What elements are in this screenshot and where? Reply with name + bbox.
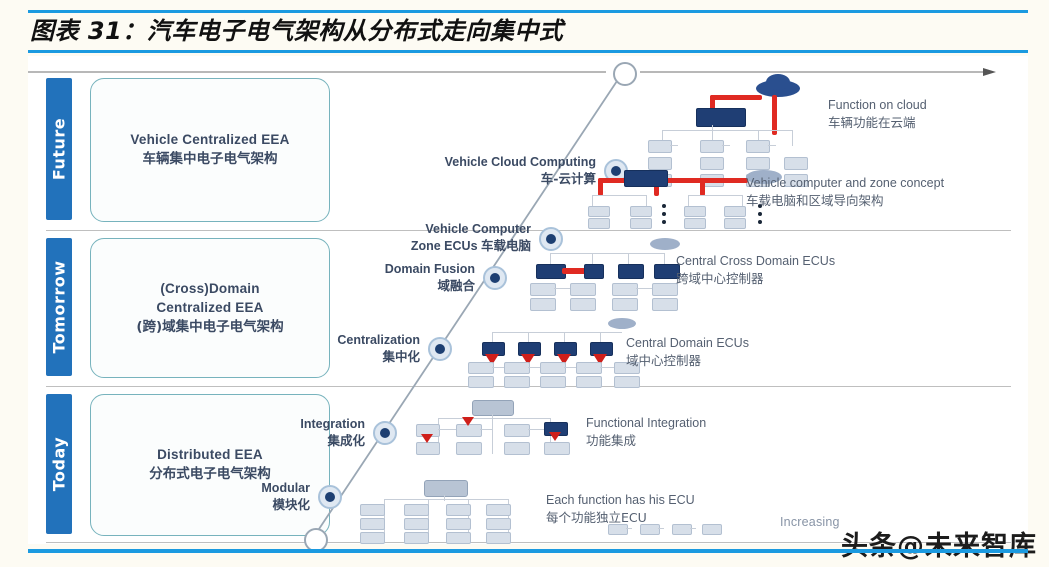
ecu-block (456, 442, 482, 455)
caption-cn: 车-云计算 (358, 171, 596, 188)
era-label-tomorrow: Tomorrow (50, 261, 69, 354)
ecu-block (672, 524, 692, 535)
ecu-block (702, 524, 722, 535)
caption-integration: Integration 集成化 (178, 416, 365, 450)
ellipsis-dot (662, 220, 666, 224)
description-cn: 跨域中心控制器 (676, 270, 835, 288)
caption-en-line1: Vehicle Computer (328, 221, 531, 238)
red-function-icon (462, 417, 474, 426)
ellipsis-dot (758, 220, 762, 224)
caption-en: Modular (123, 480, 310, 497)
bus-wire (626, 528, 632, 529)
ecu-block (468, 362, 494, 374)
description-en: Central Cross Domain ECUs (676, 252, 835, 270)
bus-wire (444, 495, 445, 501)
description-functional-integration: Functional Integration 功能集成 (586, 414, 706, 450)
description-central-domain-ecus: Central Domain ECUs 域中心控制器 (626, 334, 749, 370)
bus-wire (554, 288, 570, 289)
ecu-block (612, 283, 638, 296)
timeline-node-top-endpoint (613, 62, 637, 86)
diagram-canvas: Future Tomorrow Today Vehicle Centralize… (28, 56, 1028, 544)
ecu-block (404, 532, 429, 544)
mini-diagram-domain-fusion (528, 238, 698, 310)
ecu-block (540, 362, 566, 374)
description-en: Each function has his ECU (546, 491, 695, 509)
bus-wire (768, 145, 776, 146)
mini-diagram-bottom-ecus (608, 522, 728, 538)
bus-wire (384, 499, 508, 500)
ecu-block (360, 532, 385, 544)
description-cn: 功能集成 (586, 432, 706, 450)
ecu-block (576, 376, 602, 388)
red-bus-segment (710, 95, 762, 100)
ecu-block (576, 362, 602, 374)
ecu-block (530, 298, 556, 311)
figure-page: 图表 31：汽车电子电气架构从分布式走向集中式 Future Tomorrow … (0, 0, 1049, 567)
stage-box-en-line2: Centralized EEA (156, 298, 263, 318)
mini-diagram-integration (416, 398, 576, 462)
ecu-block (504, 362, 530, 374)
red-bus-backbone (598, 178, 748, 183)
ecu-block (486, 504, 511, 516)
timeline-node-modular (318, 485, 342, 509)
gateway-block (424, 480, 468, 497)
ecu-block (724, 218, 746, 229)
description-en: Vehicle computer and zone concept (746, 174, 944, 192)
bus-wire (658, 528, 664, 529)
cloud-icon (650, 238, 680, 250)
stage-box-vehicle-centralized: Vehicle Centralized EEA 车辆集中电子电气架构 (90, 78, 330, 222)
era-bar-today: Today (46, 394, 72, 534)
bus-wire (438, 418, 550, 419)
bus-wire (722, 145, 730, 146)
watermark-text: 头条@未来智库 (841, 524, 1037, 563)
page-title: 图表 31：汽车电子电气架构从分布式走向集中式 (30, 14, 1010, 48)
bus-wire (550, 253, 664, 254)
red-bus-drop (700, 178, 705, 196)
bus-wire (690, 528, 696, 529)
description-en: Functional Integration (586, 414, 706, 432)
stage-box-cn: 车辆集中电子电气架构 (143, 150, 278, 170)
red-function-icon (421, 434, 433, 443)
ecu-block (360, 504, 385, 516)
cloud-icon (608, 318, 636, 329)
era-bar-tomorrow: Tomorrow (46, 238, 72, 376)
ecu-block (612, 298, 638, 311)
ecu-block (446, 518, 471, 530)
ecu-block (700, 140, 724, 153)
bus-wire (670, 145, 678, 146)
ecu-block (486, 518, 511, 530)
description-function-on-cloud: Function on cloud 车辆功能在云端 (828, 96, 927, 132)
ellipsis-dot (662, 204, 666, 208)
caption-cn: 模块化 (123, 497, 310, 514)
ecu-block (416, 442, 440, 455)
ecu-block (746, 140, 770, 153)
bus-wire (492, 418, 493, 454)
caption-vehicle-computer-zone-ecus: Vehicle Computer Zone ECUs 车载电脑 (328, 221, 531, 255)
ellipsis-dot (758, 212, 762, 216)
bus-wire (592, 195, 646, 196)
caption-vehicle-cloud-computing: Vehicle Cloud Computing 车-云计算 (358, 154, 596, 188)
title-rule-top (28, 10, 1028, 13)
ecu-block (608, 524, 628, 535)
bus-wire (600, 367, 614, 368)
bus-wire (480, 429, 492, 430)
ecu-block (630, 218, 652, 229)
ecu-block (468, 376, 494, 388)
description-en: Central Domain ECUs (626, 334, 749, 352)
ecu-block (570, 298, 596, 311)
ecu-block (570, 283, 596, 296)
bus-wire (528, 429, 544, 430)
cloud-icon-puff (766, 74, 790, 90)
ellipsis-dot (662, 212, 666, 216)
caption-domain-fusion: Domain Fusion 域融合 (278, 261, 475, 295)
timeline-node-integration (373, 421, 397, 445)
bus-wire (688, 195, 742, 196)
red-function-icon (549, 432, 561, 441)
timeline-node-centralization (428, 337, 452, 361)
era-label-today: Today (50, 437, 69, 491)
caption-en: Integration (178, 416, 365, 433)
domain-controller-block (618, 264, 644, 279)
ecu-block (684, 206, 706, 217)
description-cn: 车辆功能在云端 (828, 114, 927, 132)
description-cn: 域中心控制器 (626, 352, 749, 370)
bus-wire (636, 288, 652, 289)
stage-box-en: Vehicle Centralized EEA (130, 130, 289, 150)
footer-rule (28, 549, 1028, 553)
ecu-block (446, 504, 471, 516)
caption-modular: Modular 模块化 (123, 480, 310, 514)
bus-wire (662, 130, 792, 131)
title-rule-bottom (28, 50, 1028, 53)
description-vehicle-computer-zone: Vehicle computer and zone concept 车载电脑和区… (746, 174, 944, 210)
ecu-block (530, 283, 556, 296)
increasing-axis-label: Increasing (780, 515, 840, 529)
bus-wire (792, 130, 793, 146)
red-bus-segment (772, 95, 777, 135)
bus-wire (564, 367, 576, 368)
ecu-block (540, 376, 566, 388)
caption-cn: 域融合 (278, 278, 475, 295)
era-label-future: Future (50, 118, 69, 180)
ecu-block (648, 140, 672, 153)
ecu-block (404, 518, 429, 530)
domain-controller-block (584, 264, 604, 279)
caption-en: Centralization (228, 332, 420, 349)
ecu-block (504, 442, 530, 455)
ecu-block (652, 298, 678, 311)
mini-diagram-centralization (468, 318, 648, 386)
ecu-block (724, 206, 746, 217)
ecu-block (486, 532, 511, 544)
ecu-block (504, 424, 530, 437)
bus-wire (492, 367, 504, 368)
timeline-node-domain-fusion (483, 266, 507, 290)
caption-cn: 集中化 (228, 349, 420, 366)
caption-centralization: Centralization 集中化 (228, 332, 420, 366)
description-cn: 车载电脑和区域导向架构 (746, 192, 944, 210)
bus-wire (492, 332, 622, 333)
ecu-block (504, 376, 530, 388)
vehicle-computer-block (624, 170, 668, 187)
caption-en-line2: Zone ECUs 车载电脑 (328, 238, 531, 255)
vehicle-computer-block (696, 108, 746, 127)
mini-diagram-modular (358, 480, 538, 540)
ecu-block (588, 206, 610, 217)
stage-box-en-line1: (Cross)Domain (160, 279, 259, 299)
caption-en: Domain Fusion (278, 261, 475, 278)
description-central-cross-domain-ecus: Central Cross Domain ECUs 跨域中心控制器 (676, 252, 835, 288)
red-bus-drop (598, 178, 603, 196)
ecu-block (640, 524, 660, 535)
ecu-block (630, 206, 652, 217)
ecu-block (684, 218, 706, 229)
description-en: Function on cloud (828, 96, 927, 114)
ecu-block (446, 532, 471, 544)
caption-cn: 集成化 (178, 433, 365, 450)
ecu-block (544, 442, 570, 455)
ecu-block (588, 218, 610, 229)
ecu-block (614, 376, 640, 388)
bus-wire (438, 429, 456, 430)
era-bar-future: Future (46, 78, 72, 220)
caption-en: Vehicle Cloud Computing (358, 154, 596, 171)
ecu-block (360, 518, 385, 530)
ecu-block (652, 283, 678, 296)
bus-wire (528, 367, 540, 368)
ecu-block (404, 504, 429, 516)
